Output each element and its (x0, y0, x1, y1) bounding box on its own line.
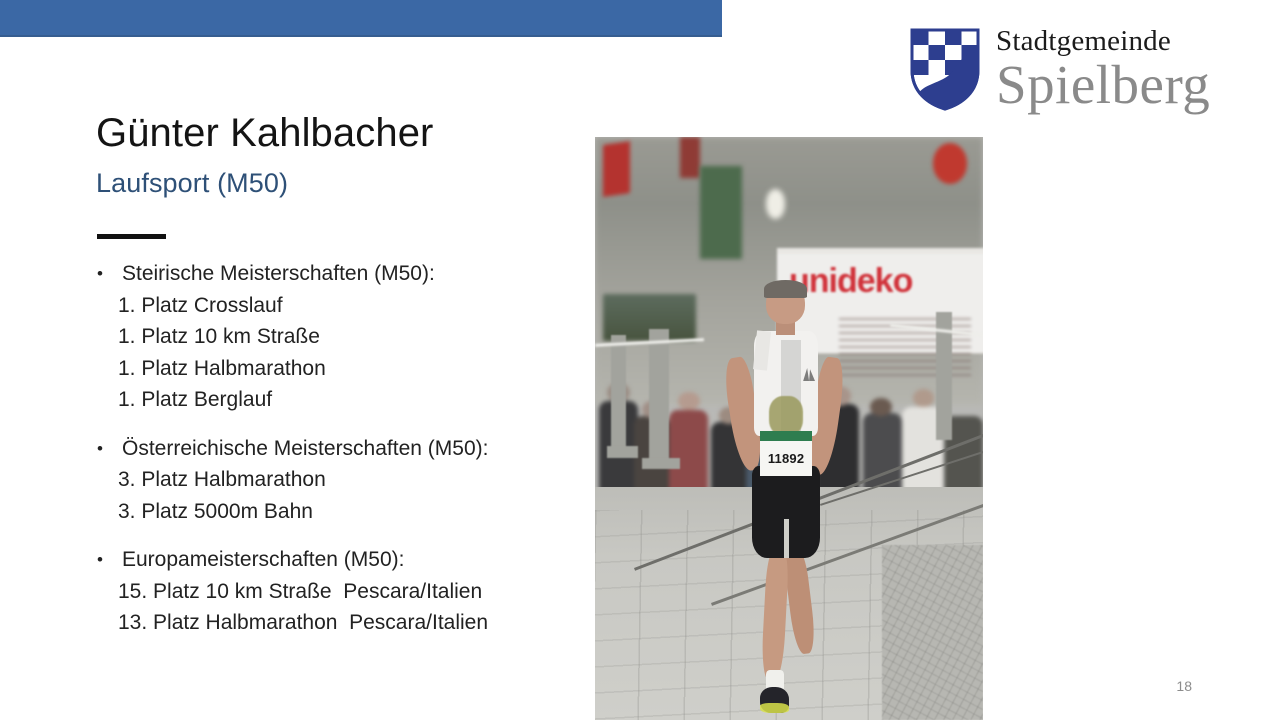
photo-red-circle-sign (933, 143, 968, 184)
achievement-group: • Steirische Meisterschaften (M50): 1. P… (93, 258, 573, 416)
achievement-line: 1. Platz Halbmarathon (118, 353, 573, 385)
photo-barrier-post (649, 329, 668, 463)
title-divider (97, 234, 166, 239)
bullet-dot-icon: • (93, 258, 122, 290)
runner-shorts-split (784, 519, 789, 558)
photo-barrier-foot (642, 458, 681, 470)
runner-left-leg (760, 549, 789, 681)
photo-barrier-post (611, 335, 627, 452)
photo-barrier-foot (607, 446, 638, 458)
bullet-heading-row: • Österreichische Meisterschaften (M50): (93, 433, 573, 465)
top-accent-bar (0, 0, 722, 37)
runner-bib-number: 11892 (768, 451, 804, 466)
photo-runner-figure: 11892 (708, 283, 879, 720)
runner-right-leg (783, 549, 818, 656)
bullet-heading: Österreichische Meisterschaften (M50): (122, 433, 488, 465)
achievement-line: 3. Platz 5000m Bahn (118, 496, 573, 528)
achievement-group: • Europameisterschaften (M50): 15. Platz… (93, 544, 573, 639)
achievement-lines: 1. Platz Crosslauf 1. Platz 10 km Straße… (118, 290, 573, 416)
achievement-line: 15. Platz 10 km Straße Pescara/Italien (118, 576, 573, 608)
bullet-heading-row: • Europameisterschaften (M50): (93, 544, 573, 576)
achievement-lines: 15. Platz 10 km Straße Pescara/Italien 1… (118, 576, 573, 639)
achievement-line: 1. Platz Crosslauf (118, 290, 573, 322)
achievement-line: 3. Platz Halbmarathon (118, 464, 573, 496)
achievement-lines: 3. Platz Halbmarathon 3. Platz 5000m Bah… (118, 464, 573, 527)
photo-green-panel (700, 166, 743, 259)
bullet-dot-icon: • (93, 433, 122, 465)
runner-hair (764, 280, 807, 297)
runner-singlet-print (769, 396, 803, 435)
top-accent-bar-shadow (0, 35, 722, 37)
achievement-line: 1. Platz Berglauf (118, 384, 573, 416)
photo-cobblestone-area (882, 545, 983, 720)
page-number: 18 (1176, 678, 1192, 694)
achievements-list: • Steirische Meisterschaften (M50): 1. P… (93, 258, 573, 639)
runner-photo: unideko (595, 137, 983, 720)
bullet-heading: Europameisterschaften (M50): (122, 544, 404, 576)
photo-red-flag (603, 141, 630, 197)
bullet-heading: Steirische Meisterschaften (M50): (122, 258, 435, 290)
logo-wordmark: Stadtgemeinde Spielberg (996, 26, 1210, 112)
stadtgemeinde-spielberg-logo: Stadtgemeinde Spielberg (908, 26, 1198, 118)
bullet-dot-icon: • (93, 544, 122, 576)
presentation-slide: Stadtgemeinde Spielberg Günter Kahlbache… (0, 0, 1280, 720)
runner-shoe-sole (760, 703, 789, 713)
page-subtitle: Laufsport (M50) (96, 168, 288, 199)
photo-red-flag-2 (680, 137, 699, 178)
logo-line-stadtgemeinde: Stadtgemeinde (996, 27, 1210, 56)
bullet-heading-row: • Steirische Meisterschaften (M50): (93, 258, 573, 290)
runner-race-bib: 11892 (760, 441, 811, 476)
achievement-group: • Österreichische Meisterschaften (M50):… (93, 433, 573, 528)
page-title: Günter Kahlbacher (96, 111, 433, 156)
photo-street-lamp (766, 189, 785, 218)
achievement-line: 13. Platz Halbmarathon Pescara/Italien (118, 607, 573, 639)
spielberg-coat-of-arms-icon (908, 26, 982, 112)
logo-line-spielberg: Spielberg (996, 57, 1210, 112)
achievement-line: 1. Platz 10 km Straße (118, 321, 573, 353)
